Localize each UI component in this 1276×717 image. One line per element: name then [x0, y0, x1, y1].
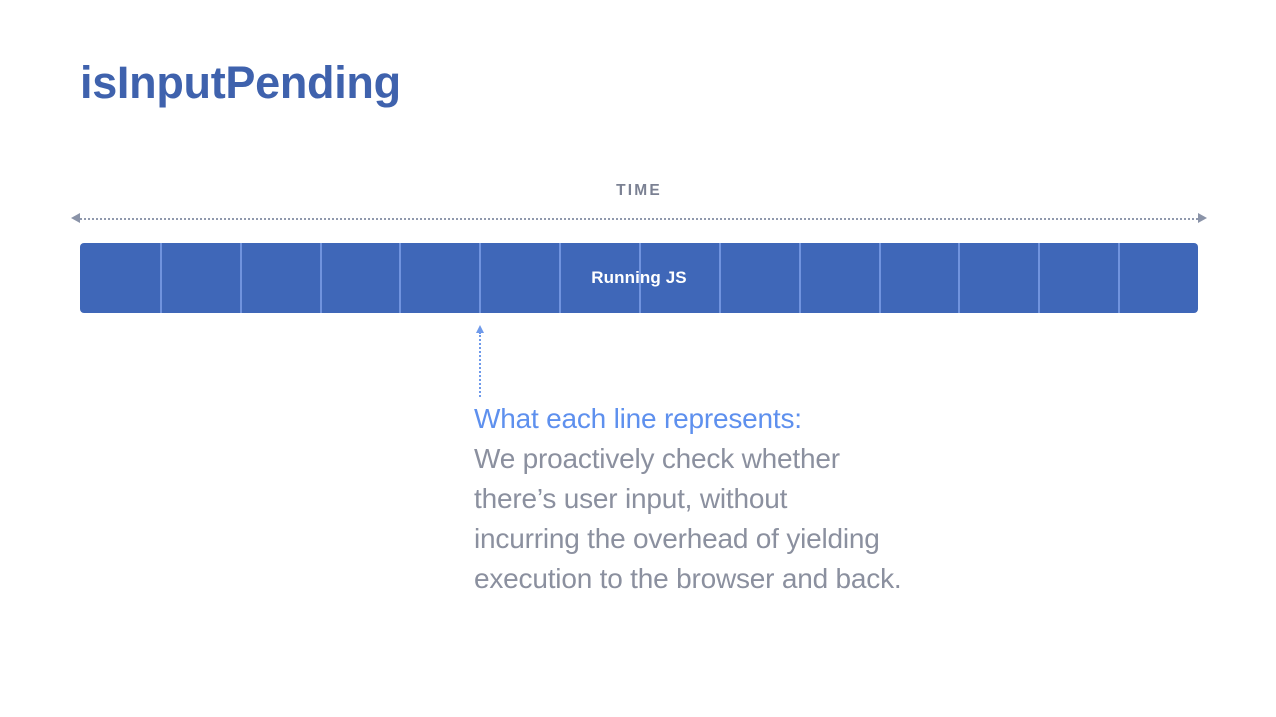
time-axis: TIME: [80, 182, 1198, 226]
time-axis-line: [80, 218, 1198, 221]
callout-body: We proactively check whetherthere’s user…: [474, 439, 1034, 599]
execution-bar-label: Running JS: [80, 243, 1198, 313]
callout-body-line: incurring the overhead of yielding: [474, 519, 1034, 559]
callout-heading: What each line represents:: [474, 399, 1034, 439]
arrow-left-icon: [71, 213, 80, 223]
page-title: isInputPending: [80, 57, 401, 109]
callout-body-line: execution to the browser and back.: [474, 559, 1034, 599]
callout-pointer-line: [479, 332, 481, 397]
callout-pointer: [476, 325, 484, 397]
callout-text-block: What each line represents: We proactivel…: [474, 399, 1034, 599]
arrow-right-icon: [1198, 213, 1207, 223]
time-axis-label: TIME: [80, 182, 1198, 200]
callout-body-line: there’s user input, without: [474, 479, 1034, 519]
callout-body-line: We proactively check whether: [474, 439, 1034, 479]
